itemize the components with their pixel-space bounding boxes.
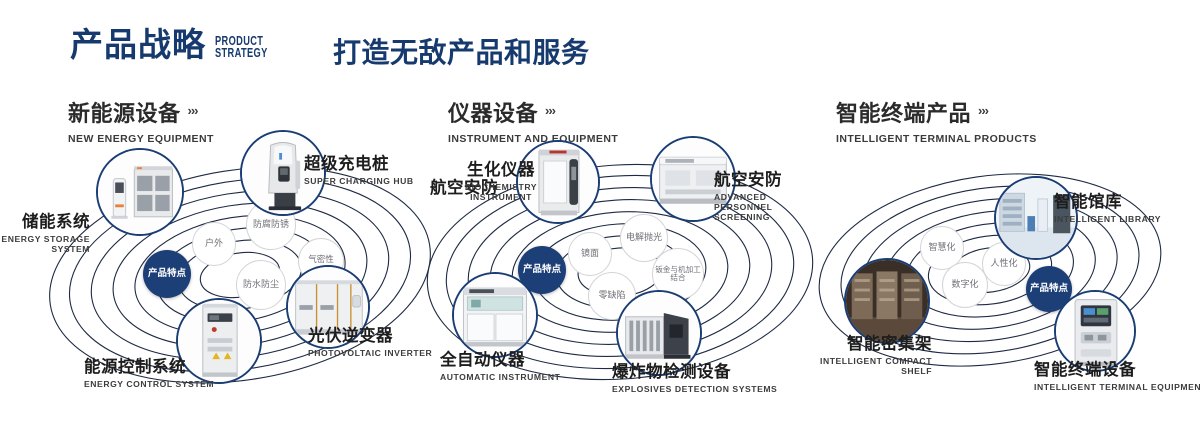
section-heading-intelligent-terminal: 智能终端产品››› INTELLIGENT TERMINAL PRODUCTS: [836, 96, 1037, 145]
feature-bubble: 户外: [192, 222, 236, 266]
product-label-compact-shelf: 智能密集架 INTELLIGENT COMPACT SHELF: [808, 330, 932, 376]
section-heading-cn: 智能终端产品: [836, 96, 971, 128]
energy-storage-cabinet-photo: [98, 150, 182, 234]
page-title: 产品战略 PRODUCT STRATEGY: [70, 28, 286, 61]
chevrons-right-icon: ›››: [545, 103, 555, 118]
product-label-biochemistry-instrument: 生化仪器 BIOCHEMISTRY INSTRUMENT: [446, 156, 556, 202]
section-heading-cn: 仪器设备: [448, 96, 538, 128]
product-label-explosives-detection: 爆炸物检测设备 EXPLOSIVES DETECTION SYSTEMS: [612, 358, 777, 394]
section-heading-instrument: 仪器设备››› INSTRUMENT AND EQUIPMENT: [448, 96, 618, 145]
feature-bubble: 镜面: [568, 232, 612, 276]
product-label-energy-storage: 储能系统 ENERGY STORAGE SYSTEM: [0, 208, 90, 254]
product-label-energy-control: 能源控制系统 ENERGY CONTROL SYSTEM: [84, 353, 214, 389]
page-title-en: PRODUCT STRATEGY: [215, 35, 268, 59]
product-label-photovoltaic-inverter: 光伏逆变器 PHOTOVOLTAIC INVERTER: [308, 322, 432, 358]
cluster-instrument: 镜面 电解抛光 钣金与机加工结合 零缺陷 产品特点: [420, 150, 820, 390]
cluster-intelligent-terminal: 智慧化 人性化 数字化 产品特点: [810, 150, 1200, 390]
cluster-new-energy: 户外 防腐防锈 防水防尘 气密性 产品特点: [40, 150, 440, 390]
page-title-en-line2: STRATEGY: [215, 47, 268, 59]
page-title-cn: 产品战略: [70, 28, 206, 61]
product-label-personnel-screening: 航空安防 ADVANCED PERSONNEL SCREENING: [714, 166, 820, 222]
automatic-instrument-photo: [454, 274, 536, 356]
feature-bubble: 数字化: [942, 262, 988, 308]
section-heading-en: INTELLIGENT TERMINAL PRODUCTS: [836, 133, 1037, 145]
product-label-intelligent-library: 智能馆库 INTELLIGENT LIBRARY: [1054, 188, 1161, 224]
section-heading-cn: 新能源设备: [68, 96, 181, 128]
core-bubble-product-features: 产品特点: [143, 250, 191, 298]
product-strategy-infographic: 产品战略 PRODUCT STRATEGY 打造无敌产品和服务 新能源设备›››…: [0, 0, 1200, 422]
product-circle-energy-storage[interactable]: [96, 148, 184, 236]
page-subtitle: 打造无敌产品和服务: [333, 31, 590, 71]
section-heading-en: NEW ENERGY EQUIPMENT: [68, 133, 214, 145]
product-label-automatic-instrument: 全自动仪器 AUTOMATIC INSTRUMENT: [440, 346, 560, 382]
section-heading-new-energy: 新能源设备››› NEW ENERGY EQUIPMENT: [68, 96, 214, 145]
chevrons-right-icon: ›››: [188, 103, 198, 118]
chevrons-right-icon: ›››: [978, 103, 988, 118]
product-label-terminal-equipment: 智能终端设备 INTELLIGENT TERMINAL EQUIPMENT: [1034, 356, 1200, 392]
